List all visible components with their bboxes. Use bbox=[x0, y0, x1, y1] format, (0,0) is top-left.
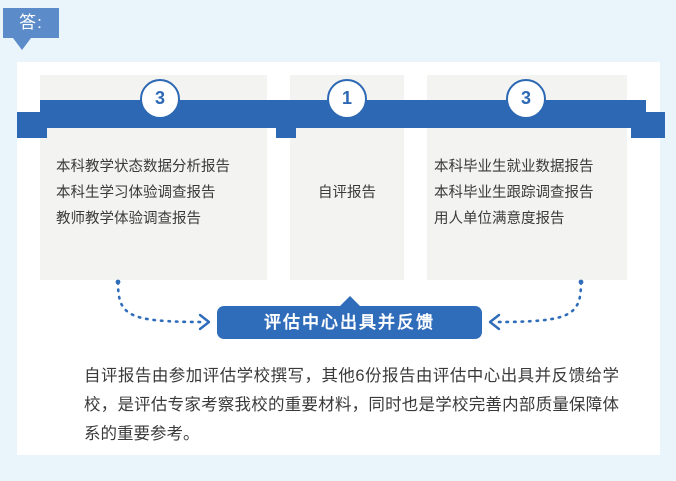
report-panel-left-items: 本科教学状态数据分析报告 本科生学习体验调查报告 教师教学体验调查报告 bbox=[56, 154, 267, 232]
count-badge-left: 3 bbox=[140, 79, 180, 119]
list-item: 本科毕业生跟踪调查报告 bbox=[434, 180, 627, 206]
list-item: 自评报告 bbox=[290, 180, 404, 206]
feedback-pill-label: 评估中心出具并反馈 bbox=[264, 313, 435, 332]
ribbon-tail-right bbox=[631, 112, 665, 138]
answer-badge-label: 答: bbox=[19, 13, 43, 32]
list-item: 本科生学习体验调查报告 bbox=[56, 180, 267, 206]
list-item: 本科毕业生就业数据报告 bbox=[434, 154, 627, 180]
list-item: 本科教学状态数据分析报告 bbox=[56, 154, 267, 180]
list-item: 教师教学体验调查报告 bbox=[56, 206, 267, 232]
summary-paragraph: 自评报告由参加评估学校撰写，其他6份报告由评估中心出具并反馈给学校，是评估专家考… bbox=[84, 362, 619, 449]
answer-badge: 答: bbox=[3, 8, 59, 38]
answer-badge-tail-icon bbox=[13, 38, 31, 50]
report-panel-right-items: 本科毕业生就业数据报告 本科毕业生跟踪调查报告 用人单位满意度报告 bbox=[434, 154, 627, 232]
feedback-pill-notch-icon bbox=[339, 296, 361, 307]
report-panel-center-items: 自评报告 bbox=[290, 180, 404, 206]
feedback-pill: 评估中心出具并反馈 bbox=[217, 306, 482, 339]
count-badge-right: 3 bbox=[506, 79, 546, 119]
list-item: 用人单位满意度报告 bbox=[434, 206, 627, 232]
count-badge-center: 1 bbox=[327, 79, 367, 119]
